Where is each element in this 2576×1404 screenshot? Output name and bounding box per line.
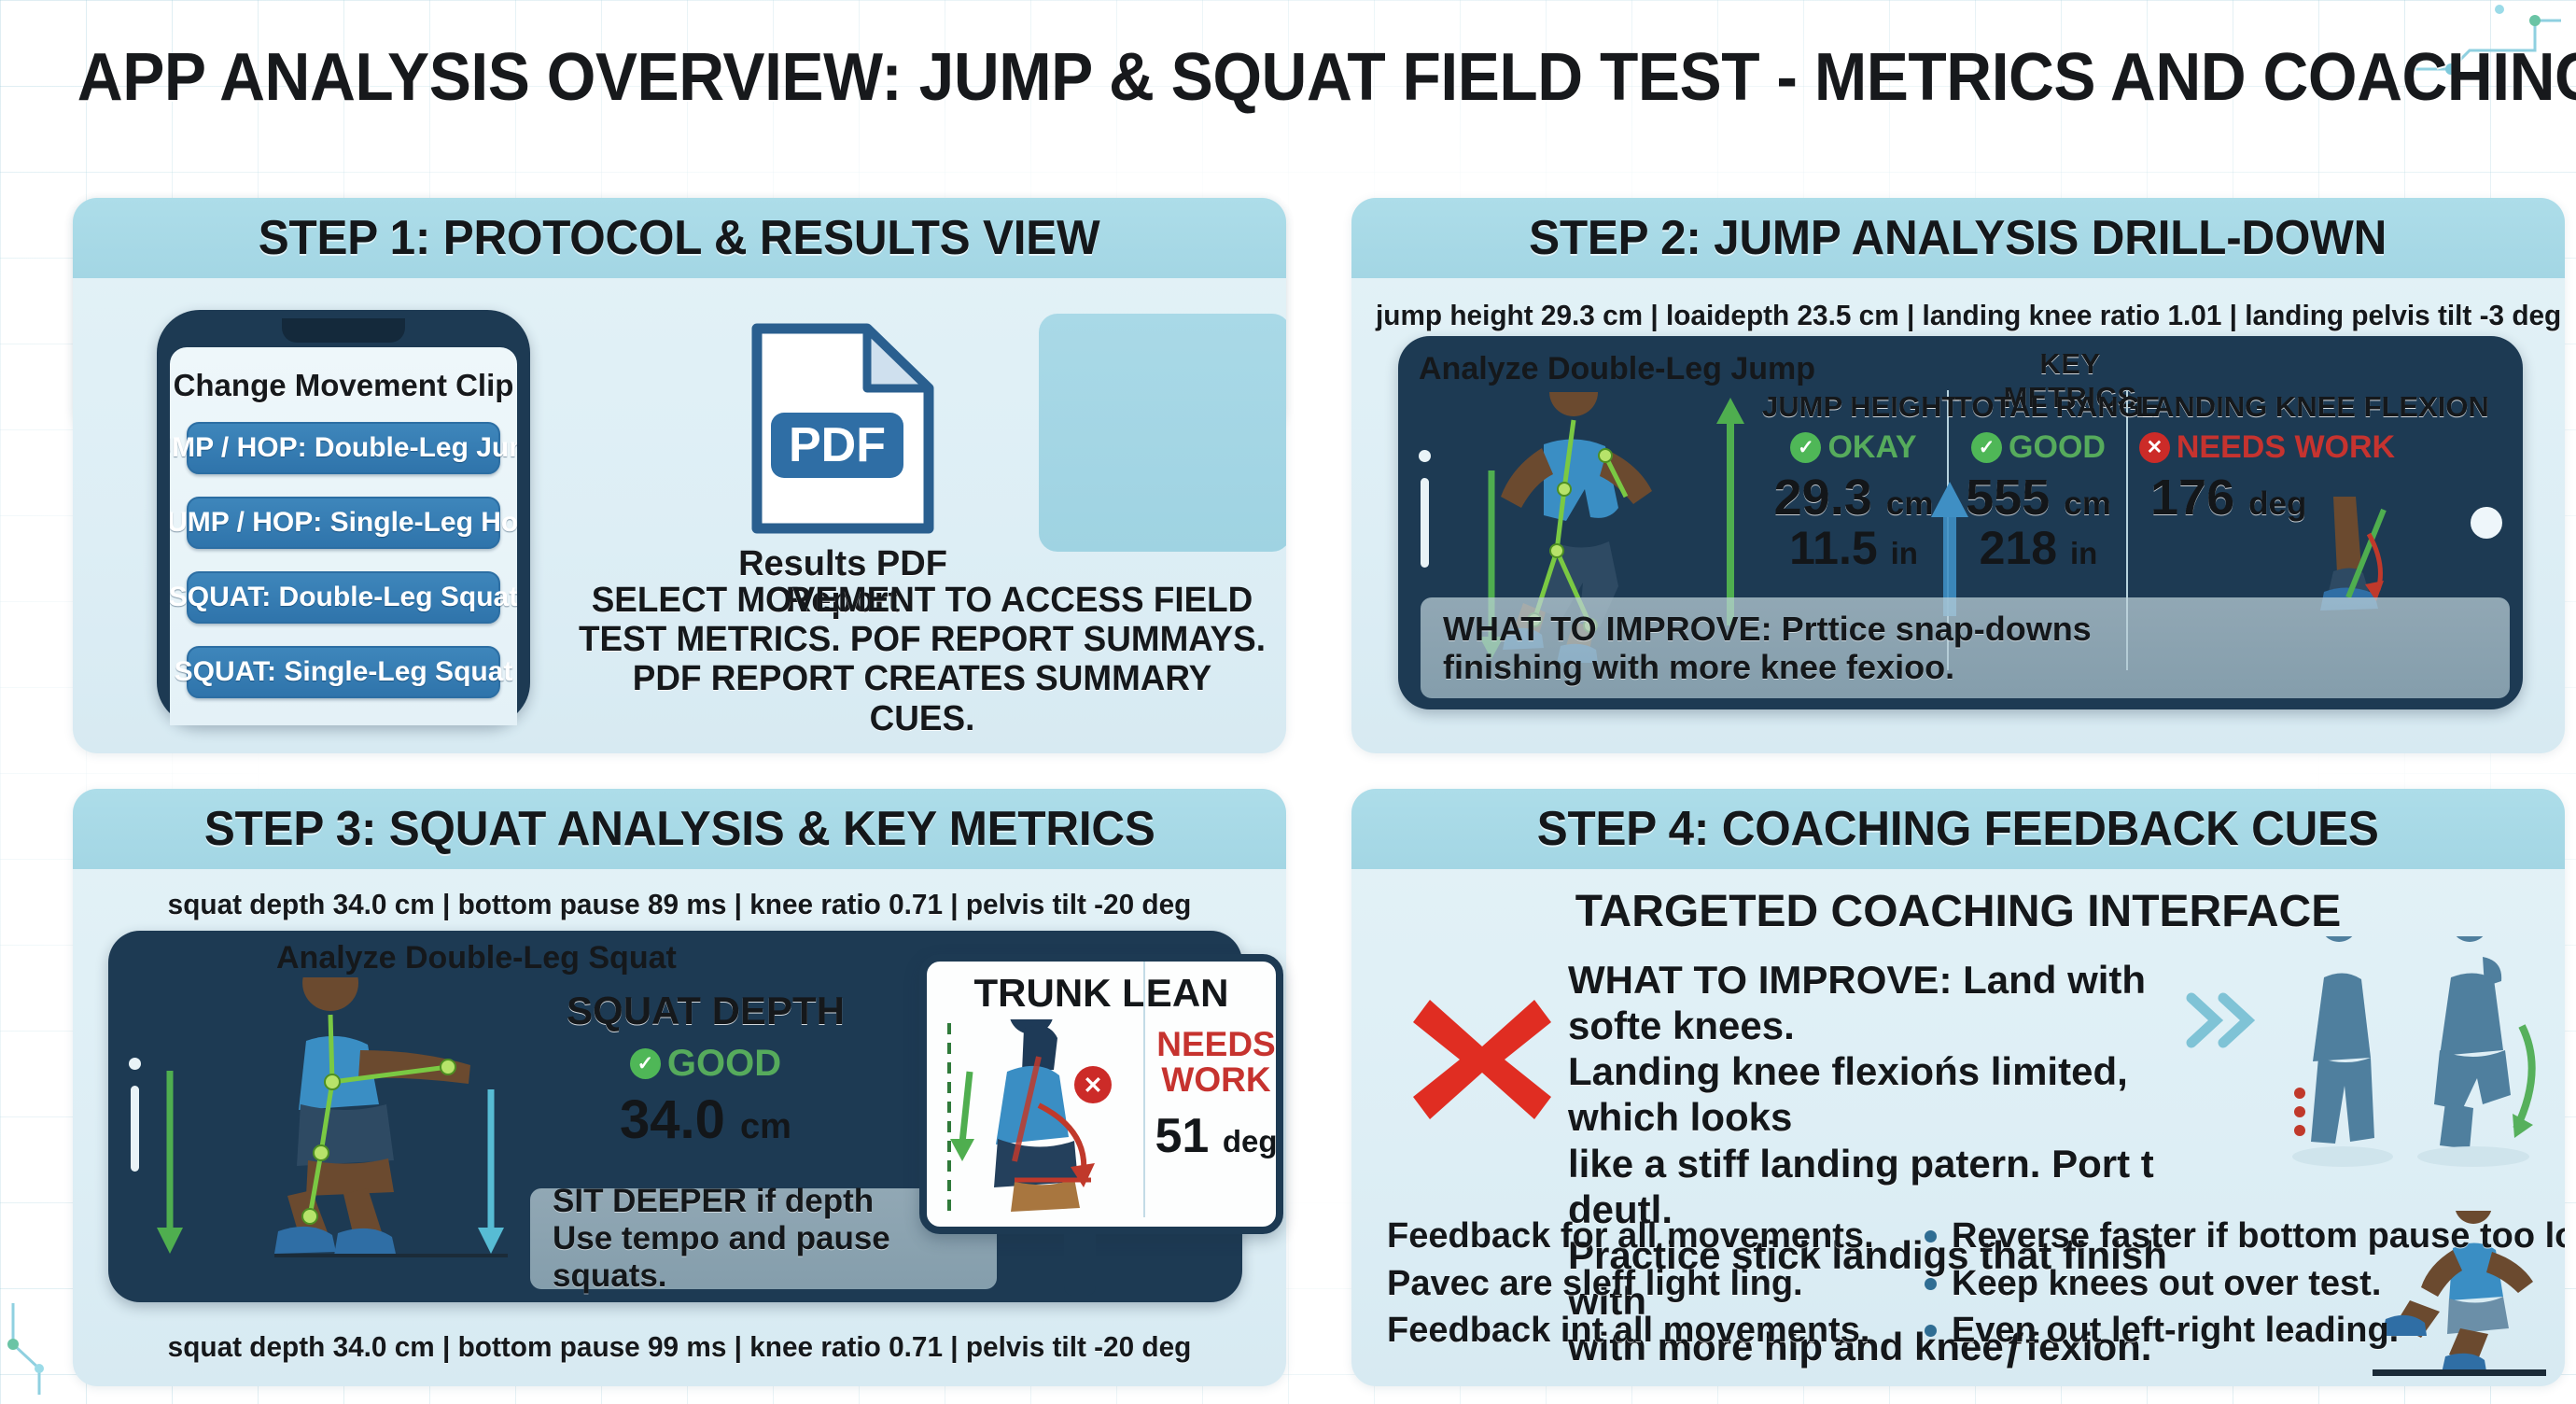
bullet-dot-icon [1925, 1230, 1937, 1243]
metric-total-range-label: TOTAL RANGE [1954, 390, 2122, 424]
page-title: APP ANALYSIS OVERVIEW: JUMP & SQUAT FIEL… [77, 39, 2499, 116]
metric-landing-knee-flexion-status: ✕ NEEDS WORK [2135, 429, 2399, 466]
bullet-dot-icon [1925, 1325, 1937, 1337]
trunk-lean-diagram-icon: ✕ [942, 1019, 1138, 1225]
metric-total-range-status: ✓ GOOD [1954, 429, 2122, 466]
metric-total-range-status-text: GOOD [2009, 429, 2106, 466]
metric-landing-knee-flexion-label: LANDING KNEE FLEXION [2135, 390, 2399, 424]
step3-screen-label: Analyze Double-Leg Squat [276, 940, 677, 976]
metric-jump-height-value-alt: 11.5 in [1762, 525, 1945, 571]
metric-squat-depth[interactable]: SQUAT DEPTH ✓ GOOD 34.0 cm [547, 989, 864, 1151]
step4-paragraph-line2: Landing knee flexiońs limited, which lo… [1568, 1048, 2221, 1140]
bullet-left-3: Feedback int all movements. [1387, 1307, 1910, 1355]
metric-squat-depth-status-text: GOOD [667, 1043, 781, 1085]
metric-jump-height-label: JUMP HEIGHT [1762, 390, 1945, 424]
step1-header: STEP 1: PROTOCOL & RESULTS VIEW [73, 198, 1286, 278]
phone-screen-step1: Change Movement Clip JUMP / HOP: Double-… [170, 347, 517, 725]
step3-metric-strip-bottom: squat depth 34.0 cm | bottom pause 99 ms… [97, 1330, 1262, 1364]
step1-blurb-line1: SELECT MOVEMENT TO ACCESS FIELD [578, 581, 1266, 620]
step2-header-label: STEP 2: JUMP ANALYSIS DRILL-DOWN [1530, 210, 2387, 266]
phone-camera-dot [129, 1058, 141, 1070]
metric-landing-knee-flexion-status-text: NEEDS WORK [2177, 429, 2395, 466]
trunk-lean-card[interactable]: TRUNK LEAN ✕ NEEDS WORK [919, 954, 1283, 1234]
knee-flexion-diagram-icon [2311, 493, 2401, 614]
metric-total-range-number: 555 [1966, 470, 2050, 526]
trunk-lean-title: TRUNK LEAN [927, 971, 1276, 1016]
metric-squat-depth-value: 34.0 cm [547, 1088, 864, 1151]
bullet-right-2: Keep knees out over test. [1952, 1260, 2381, 1308]
movement-button-double-leg-jump[interactable]: JUMP / HOP: Double-Leg Jump [187, 422, 500, 474]
metric-jump-height-value: 29.3 cm [1762, 471, 1945, 525]
metric-total-range[interactable]: TOTAL RANGE ✓ GOOD 555 cm 218 in [1954, 390, 2122, 571]
metric-total-range-number-alt: 218 [1980, 522, 2057, 574]
phone-notch [282, 318, 405, 343]
squat-depth-arrow-secondary-icon [472, 1089, 510, 1256]
metric-landing-knee-flexion-unit: deg [2248, 485, 2306, 522]
step2-improve-line2: finishing with more knee fexioo. [1443, 648, 2092, 686]
trunk-lean-value: 51 deg [1151, 1108, 1281, 1164]
bullet-row: Pavec are sleff light ling. Keep knees o… [1387, 1260, 2565, 1308]
step4-bullet-list: Feedback for all movements. Reverse fast… [1387, 1213, 2565, 1355]
step2-metric-strip: jump height 29.3 cm | loaidepth 23.5 cm … [1376, 299, 2541, 332]
movement-button-single-leg-hop[interactable]: JUMP / HOP: Single-Leg Hop [187, 497, 500, 549]
panel-step4: STEP 4: COACHING FEEDBACK CUES TARGETED … [1351, 789, 2565, 1386]
metric-jump-height-unit-alt: in [1891, 536, 1918, 570]
trunk-lean-number: 51 [1155, 1109, 1210, 1163]
panel-step2: STEP 2: JUMP ANALYSIS DRILL-DOWN jump he… [1351, 198, 2565, 753]
metric-squat-depth-label: SQUAT DEPTH [547, 989, 864, 1033]
bullet-dot-icon [1925, 1278, 1937, 1290]
step2-what-to-improve: WHAT TO IMPROVE: Prttice snap-downs fini… [1421, 597, 2510, 698]
phone-mockup-step2: Analyze Double-Leg Jump [1398, 336, 2523, 709]
phone-speaker-bar [131, 1086, 139, 1172]
step4-header-label: STEP 4: COACHING FEEDBACK CUES [1537, 801, 2379, 857]
metric-total-range-unit-alt: in [2070, 536, 2097, 570]
metric-jump-height-status-text: OKAY [1827, 429, 1916, 466]
step4-header: STEP 4: COACHING FEEDBACK CUES [1351, 789, 2565, 869]
step1-blurb: SELECT MOVEMENT TO ACCESS FIELD TEST MET… [578, 581, 1266, 738]
bullet-right-3: Even out left-right leading. [1952, 1307, 2399, 1355]
trunk-lean-divider [1143, 962, 1145, 1217]
bullet-row: Feedback int all movements. Even out lef… [1387, 1307, 2565, 1355]
svg-text:✕: ✕ [1084, 1073, 1103, 1099]
trunk-lean-stem-bottom [1064, 1230, 1096, 1296]
step2-screen-label: Analyze Double-Leg Jump [1419, 351, 1815, 387]
metric-total-range-value: 555 cm [1954, 471, 2122, 525]
step3-header-label: STEP 3: SQUAT ANALYSIS & KEY METRICS [204, 801, 1155, 857]
metric-landing-knee-flexion-number: 176 [2150, 470, 2234, 526]
metric-total-range-value-alt: 218 in [1954, 525, 2122, 571]
metric-squat-depth-number: 34.0 [620, 1089, 725, 1150]
bullet-left-2: Pavec are sleff light ling. [1387, 1260, 1910, 1308]
step3-metric-strip-top: squat depth 34.0 cm | bottom pause 89 ms… [97, 888, 1262, 921]
results-pdf-block[interactable]: PDF Results PDF Report [689, 319, 997, 619]
phone-speaker-bar [1421, 478, 1429, 568]
metric-total-range-unit: cm [2064, 485, 2111, 522]
bullet-row: Feedback for all movements. Reverse fast… [1387, 1213, 2565, 1260]
trunk-lean-status-line2: WORK [1151, 1062, 1281, 1098]
step4-paragraph-line1: WHAT TO IMPROVE: Land with softe knees. [1568, 957, 2221, 1048]
infographic-canvas: APP ANALYSIS OVERVIEW: JUMP & SQUAT FIEL… [0, 0, 2576, 1404]
metric-jump-height[interactable]: JUMP HEIGHT ✓ OKAY 29.3 cm 11.5 in [1762, 390, 1945, 571]
metric-jump-height-number: 29.3 [1774, 470, 1872, 526]
pdf-caption-line1: Results PDF [738, 544, 947, 583]
step1-blurb-line2: TEST METRICS. POF REPORT SUMMAYS. [578, 620, 1266, 659]
large-x-icon [1407, 985, 1557, 1134]
squatting-figure-silhouette-icon [2404, 936, 2544, 1170]
metric-squat-depth-status: ✓ GOOD [547, 1043, 864, 1085]
step1-header-label: STEP 1: PROTOCOL & RESULTS VIEW [259, 210, 1100, 266]
change-movement-clip-title: Change Movement Clip [170, 368, 517, 403]
step3-cue-line2: Use tempo and pause squats. [553, 1220, 986, 1295]
standing-figure-silhouette-icon [2287, 936, 2399, 1170]
step1-accent-card [1039, 314, 1286, 552]
check-circle-icon: ✓ [1971, 432, 2002, 463]
movement-button-double-leg-squat[interactable]: SQUAT: Double-Leg Squat [187, 571, 500, 624]
metric-jump-height-unit: cm [1886, 485, 1934, 522]
step1-blurb-line3: PDF REPORT CREATES SUMMARY CUES. [578, 659, 1266, 737]
step3-header: STEP 3: SQUAT ANALYSIS & KEY METRICS [73, 789, 1286, 869]
phone-home-button[interactable] [2471, 507, 2502, 539]
trunk-lean-status-line1: NEEDS [1151, 1027, 1281, 1062]
x-circle-icon: ✕ [2139, 432, 2170, 463]
step4-subtitle: TARGETED COACHING INTERFACE [1351, 886, 2565, 937]
metric-squat-depth-unit: cm [740, 1107, 791, 1146]
metric-jump-height-status: ✓ OKAY [1762, 429, 1945, 466]
double-chevron-right-icon [2186, 989, 2270, 1054]
metric-jump-height-number-alt: 11.5 [1789, 522, 1878, 574]
check-circle-icon: ✓ [630, 1048, 661, 1079]
trunk-lean-unit: deg [1223, 1124, 1278, 1158]
phone-camera-dot [1419, 450, 1431, 462]
step2-improve-line1: WHAT TO IMPROVE: Prttice snap-downs [1443, 610, 2092, 648]
movement-button-single-leg-squat[interactable]: SQUAT: Single-Leg Squat [187, 646, 500, 698]
panel-step1-body: STEP 1: PROTOCOL & RESULTS VIEW Change M… [73, 198, 1286, 753]
phone-screen-step2: Analyze Double-Leg Jump [1398, 336, 2404, 680]
pdf-badge-label: PDF [789, 418, 886, 472]
squat-depth-arrow-icon [151, 1071, 189, 1256]
pdf-file-icon: PDF [746, 319, 940, 539]
check-circle-icon: ✓ [1790, 432, 1821, 463]
step2-header: STEP 2: JUMP ANALYSIS DRILL-DOWN [1351, 198, 2565, 278]
bullet-right-1: Reverse faster if bottom pause too long [1952, 1213, 2565, 1260]
jump-range-arrow-icon [1712, 392, 1749, 625]
phone-mockup-step1: Change Movement Clip JUMP / HOP: Double-… [157, 310, 530, 725]
bullet-left-1: Feedback for all movements. [1387, 1213, 1910, 1260]
